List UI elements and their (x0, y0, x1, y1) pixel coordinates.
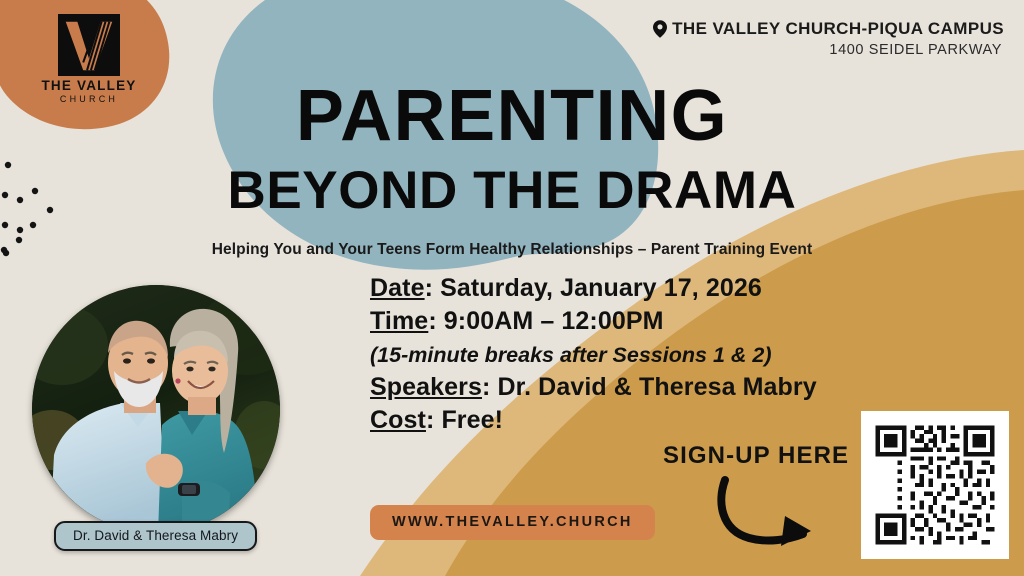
venue-address: 1400 SEIDEL PARKWAY (653, 42, 1004, 58)
detail-cost-value: : Free! (426, 406, 503, 434)
venue-name: THE VALLEY CHURCH-PIQUA CAMPUS (672, 20, 1004, 39)
page-subtitle: BEYOND THE DRAMA (0, 164, 1024, 217)
title-block: PARENTING BEYOND THE DRAMA Helping You a… (0, 80, 1024, 259)
detail-cost: Cost: Free! (370, 404, 817, 437)
curved-arrow-right-icon (715, 472, 825, 552)
speaker-photo-block: Dr. David & Theresa Mabry (32, 285, 280, 533)
detail-speakers-label: Speakers (370, 373, 482, 401)
detail-time-value: : 9:00AM – 12:00PM (428, 307, 663, 335)
website-url-button[interactable]: WWW.THEVALLEY.CHURCH (370, 505, 655, 540)
detail-speakers: Speakers: Dr. David & Theresa Mabry (370, 371, 817, 404)
valley-v-monogram-icon (58, 14, 120, 76)
qr-code[interactable] (871, 421, 999, 549)
detail-break-note: (15-minute breaks after Sessions 1 & 2) (370, 339, 817, 371)
tagline: Helping You and Your Teens Form Healthy … (0, 241, 1024, 259)
photo-caption: Dr. David & Theresa Mabry (54, 521, 257, 551)
detail-date: Date: Saturday, January 17, 2026 (370, 272, 817, 305)
map-pin-icon (653, 20, 667, 38)
detail-speakers-value: : Dr. David & Theresa Mabry (482, 373, 817, 401)
detail-time-label: Time (370, 307, 428, 335)
signup-label: SIGN-UP HERE (663, 442, 849, 470)
detail-cost-label: Cost (370, 406, 426, 434)
avatar (32, 285, 280, 533)
page-title: PARENTING (0, 80, 1024, 152)
event-details: Date: Saturday, January 17, 2026 Time: 9… (370, 272, 817, 437)
detail-time: Time: 9:00AM – 12:00PM (370, 305, 817, 338)
couple-portrait-image (32, 285, 280, 533)
event-flyer: THE VALLEY CHURCH THE VALLEY CHURCH-PIQU… (0, 0, 1024, 576)
detail-date-value: : Saturday, January 17, 2026 (425, 274, 762, 302)
venue-name-row: THE VALLEY CHURCH-PIQUA CAMPUS (653, 20, 1004, 39)
qr-code-block[interactable] (861, 411, 1009, 559)
venue-header: THE VALLEY CHURCH-PIQUA CAMPUS 1400 SEID… (653, 20, 1004, 58)
detail-date-label: Date (370, 274, 425, 302)
